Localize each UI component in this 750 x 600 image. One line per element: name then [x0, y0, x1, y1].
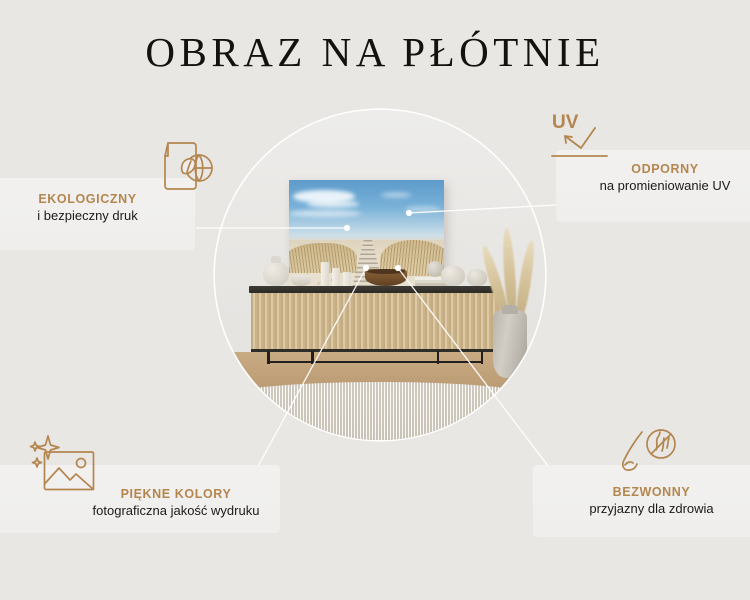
cloud: [405, 206, 441, 212]
uv-resistance-icon: UV: [549, 108, 629, 170]
feature-subtitle-uv: na promieniowanie UV: [570, 178, 750, 193]
page-title: OBRAZ NA PŁÓTNIE: [0, 28, 750, 76]
document-leaf-globe-icon: [155, 137, 223, 199]
sideboard-rail: [267, 361, 483, 363]
feature-subtitle-odor: przyjazny dla zdrowia: [543, 501, 750, 516]
ceramic-bowl: [291, 275, 311, 286]
sideboard-furniture: [249, 286, 501, 364]
sideboard-top: [249, 286, 501, 293]
photo-sparkle-icon: [26, 432, 102, 498]
area-rug: [215, 382, 545, 440]
feature-subtitle-eco: i bezpieczny druk: [0, 208, 185, 223]
sideboard-fluted-front: [251, 293, 499, 352]
wooden-bowl: [365, 269, 407, 286]
feature-heading-colors: PIĘKNE KOLORY: [80, 487, 272, 501]
uv-icon-label: UV: [552, 112, 579, 133]
ceramic-round-vase: [263, 261, 289, 286]
feature-heading-odor: BEZWONNY: [543, 485, 750, 499]
artwork-sky: [289, 180, 444, 240]
nose-no-smell-icon: [612, 424, 682, 486]
ceramic-pot: [467, 269, 487, 286]
cloud: [381, 192, 411, 198]
cloud: [307, 200, 359, 208]
candle: [321, 262, 329, 286]
stone-floor-vase: [493, 310, 527, 378]
cloud: [289, 210, 361, 217]
ceramic-pot: [441, 265, 465, 286]
candle: [343, 272, 351, 286]
product-scene-circle: [215, 110, 545, 440]
room-background: [215, 110, 545, 440]
candle: [332, 268, 340, 286]
feature-subtitle-colors: fotograficzna jakość wydruku: [80, 503, 272, 518]
